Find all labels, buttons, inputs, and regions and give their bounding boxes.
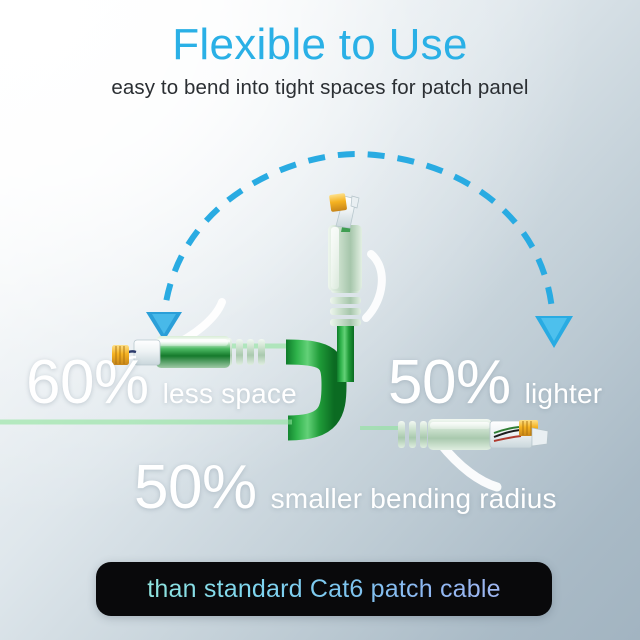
comparison-banner-text: than standard Cat6 patch cable [147,575,500,604]
stat-bending-radius: 50% smaller bending radius [134,457,557,519]
stat-less-space: 60% less space [26,352,297,414]
stat-value: 50% [134,457,257,519]
rj45-connector-right [360,419,548,450]
comparison-banner: than standard Cat6 patch cable [96,562,552,616]
stat-value: 60% [26,352,149,414]
stat-label: lighter [525,378,603,410]
product-feature-graphic: Flexible to Use easy to bend into tight … [0,0,640,640]
stat-lighter: 50% lighter [388,352,602,414]
stat-label: smaller bending radius [271,483,557,515]
down-arrow-right [535,316,573,348]
stat-label: less space [163,378,297,410]
cable-illustration [0,0,640,640]
stat-value: 50% [388,352,511,414]
